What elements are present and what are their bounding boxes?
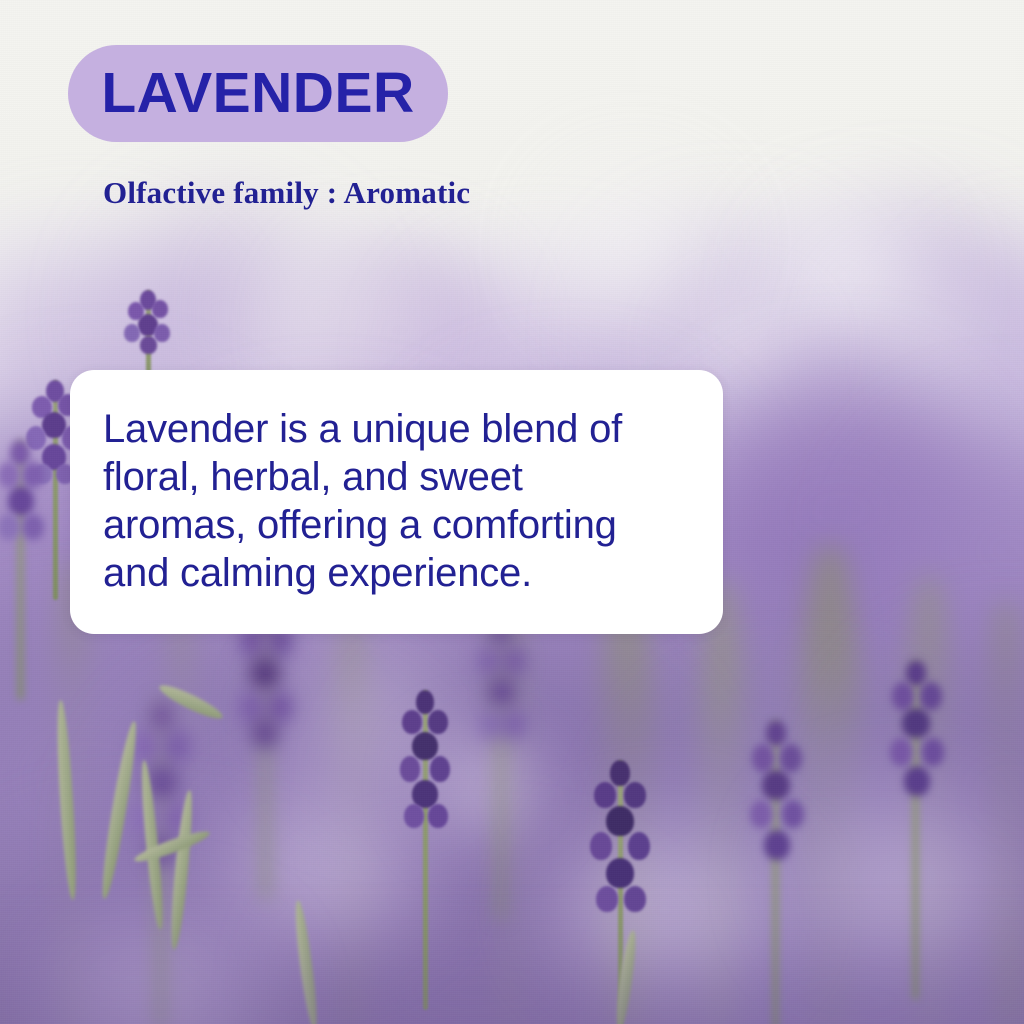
lavender-spike [880,660,950,1000]
title-badge: LAVENDER [68,45,448,142]
poster-canvas: LAVENDER Olfactive family : Aromatic Lav… [0,0,1024,1024]
vignette-bottom [0,980,1024,1024]
bokeh-highlight [250,250,400,370]
lavender-spike [230,600,300,900]
bokeh-highlight [560,180,710,310]
olfactive-family-label: Olfactive family : Aromatic [103,175,470,211]
lavender-spike [740,720,810,1024]
description-card: Lavender is a unique blend of floral, he… [70,370,723,634]
page-title: LAVENDER [101,65,414,122]
lavender-spike [470,620,530,920]
description-text: Lavender is a unique blend of floral, he… [103,405,703,597]
lavender-spike [0,440,50,700]
bokeh-highlight [860,280,1000,400]
lavender-spike [390,690,460,1010]
